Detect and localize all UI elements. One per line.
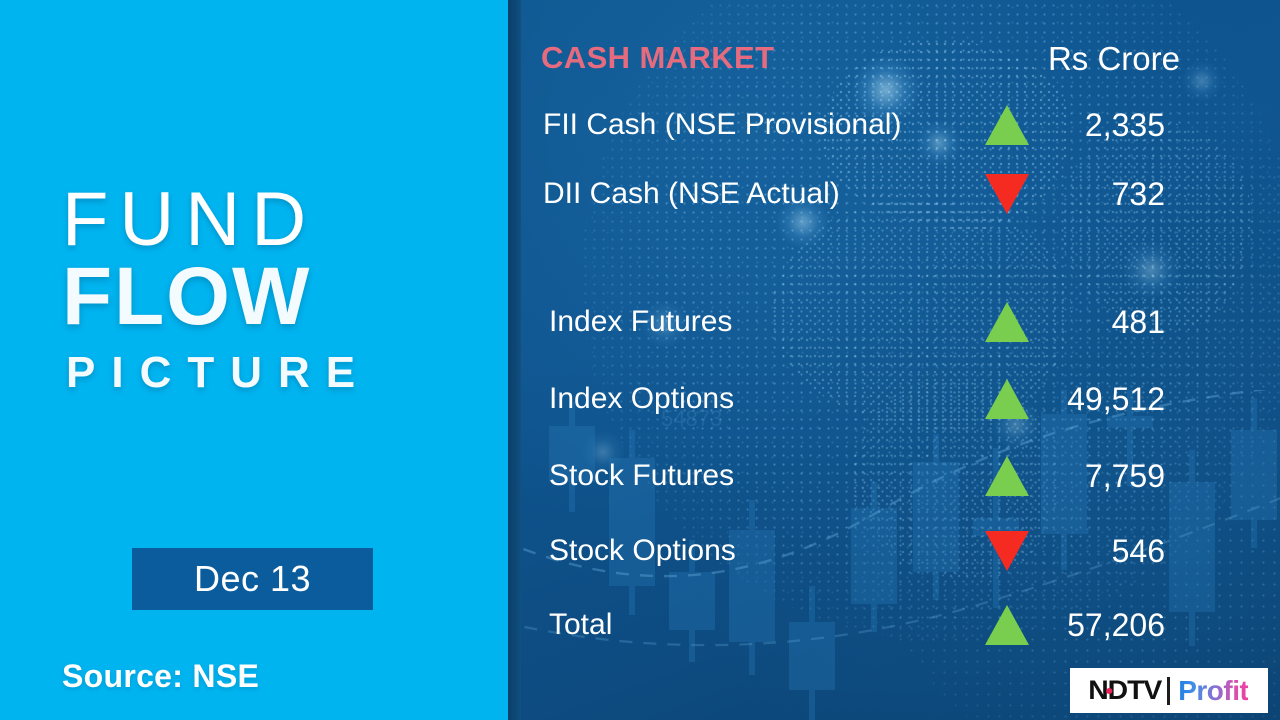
date-badge: Dec 13 — [132, 548, 373, 610]
table-row: Index Options 49,512 — [521, 371, 1280, 427]
row-value: 481 — [521, 294, 1165, 350]
source-label: Source: NSE — [62, 658, 259, 695]
row-value: 49,512 — [521, 371, 1165, 427]
logo-ndtv-text: NDTV — [1088, 675, 1161, 706]
table-row: Index Futures 481 — [521, 294, 1280, 350]
date-badge-label: Dec 13 — [194, 558, 311, 600]
fund-flow-table: CASH MARKET Rs Crore FII Cash (NSE Provi… — [521, 0, 1280, 720]
table-row: Stock Futures 7,759 — [521, 448, 1280, 504]
table-row: FII Cash (NSE Provisional) 2,335 — [521, 97, 1280, 153]
brand-line-picture: PICTURE — [66, 345, 482, 400]
logo-profit-label: Profit — [1178, 675, 1248, 707]
panel-divider — [508, 0, 521, 720]
ndtv-profit-logo: NDTV Profit — [1070, 668, 1268, 713]
row-value: 546 — [521, 523, 1165, 579]
row-value: 7,759 — [521, 448, 1165, 504]
logo-accent-dot-icon — [1106, 688, 1112, 694]
row-value: 57,206 — [521, 597, 1165, 653]
logo-inner: NDTV Profit — [1090, 675, 1249, 707]
title-panel: FUND FLOW PICTURE Dec 13 Source: NSE — [0, 0, 508, 720]
logo-ndtv-label: NDTV — [1088, 675, 1161, 705]
fund-flow-graphic: 54873 CASH MARKET Rs Crore FII Cash (NSE… — [0, 0, 1280, 720]
table-row: Total 57,206 — [521, 597, 1280, 653]
brand-line-flow: FLOW — [62, 255, 482, 339]
row-value: 2,335 — [521, 97, 1165, 153]
table-row: DII Cash (NSE Actual) 732 — [521, 166, 1280, 222]
row-value: 732 — [521, 166, 1165, 222]
brand-title-block: FUND FLOW PICTURE — [62, 185, 482, 400]
logo-separator-bar — [1167, 677, 1170, 705]
unit-label: Rs Crore — [521, 40, 1180, 78]
brand-line-fund: FUND — [62, 185, 482, 255]
table-row: Stock Options 546 — [521, 523, 1280, 579]
